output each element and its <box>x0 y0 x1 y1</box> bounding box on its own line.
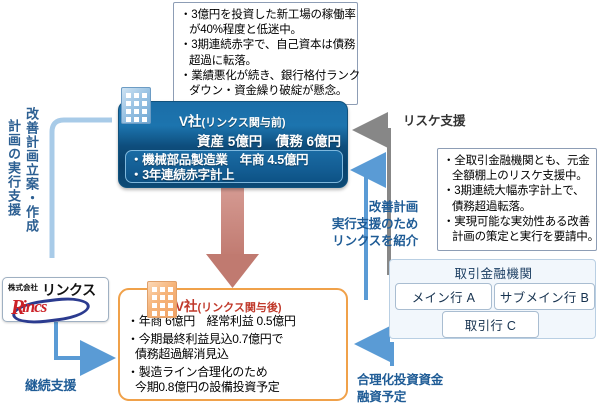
company-before-box: V社(リンクス関与前) 資産 5億円 債務 6億円 ・機械部品製造業 年商 4.… <box>118 101 348 188</box>
arrow-transformation <box>206 188 259 288</box>
company-after-item: ・今期最終利益見込0.7億円で 債務超過解消見込 <box>127 332 345 363</box>
company-after-item: ・製造ライン合理化のため 今期0.8億円の設備投資予定 <box>127 365 345 396</box>
company-before-detail-line: ・3年連続赤字計上 <box>130 168 338 183</box>
company-before-detail-line: ・機械部品製造業 年商 4.5億円 <box>130 153 338 168</box>
logo-company-prefix: 株式会社 <box>8 282 38 293</box>
vertical-label-execution-support: 計画の実行支援 <box>4 119 23 217</box>
company-before-subtitle: (リンクス関与前) <box>202 117 286 129</box>
label-continuous-support: 継続支援 <box>25 375 76 394</box>
bank-panel: 取引金融機関 メイン行 A サブメイン行 B 取引行 C <box>389 259 596 339</box>
label-intro-line: 改善計画 <box>300 199 418 216</box>
bank-chip-main[interactable]: メイン行 A <box>395 283 492 310</box>
bank-panel-title: 取引金融機関 <box>390 263 597 282</box>
arrow-continuous-support <box>56 322 112 358</box>
bank-chip-other[interactable]: 取引行 C <box>442 311 539 338</box>
company-after-details: ・年商 6億円 経常利益 0.5億円 ・今期最終利益見込0.7億円で 債務超過解… <box>127 314 345 398</box>
bank-chip-submain[interactable]: サブメイン行 B <box>494 283 595 310</box>
issues-callout: ・3億円を投資した新工場の稼働率 が40%程度と低迷中。 ・3期連続赤字で、自己… <box>173 2 358 105</box>
company-after-line: ・今期最終利益見込0.7億円で <box>127 332 345 347</box>
issues-line: 超過に転落。 <box>180 54 352 69</box>
logo-mark-word: incs <box>22 297 46 317</box>
bank-position-line: 計画の策定と実行を要請中。 <box>443 230 592 245</box>
issues-line: が40%程度と低迷中。 <box>180 23 352 38</box>
company-before-assets: 資産 5億円 債務 6億円 <box>197 130 341 150</box>
bank-position-line: ・3期連続大幅赤字計上で、 <box>443 184 592 199</box>
bank-position-line: 全額棚上のリスケ支援中。 <box>443 169 592 184</box>
company-before-name: V社 <box>179 114 202 129</box>
rincs-mark-icon: R incs <box>10 296 104 320</box>
issues-line: ダウン・資金繰り破綻が懸念。 <box>180 84 352 99</box>
label-intro-rincs: 改善計画 実行支援のため リンクスを紹介 <box>300 199 418 250</box>
bank-position-callout: ・全取引金融機関とも、元金 全額棚上のリスケ支援中。 ・3期連続大幅赤字計上で、… <box>437 148 597 251</box>
company-before-details: ・機械部品製造業 年商 4.5億円 ・3年連続赤字計上 <box>125 150 343 183</box>
label-investment-line: 合理化投資資金 <box>357 372 443 389</box>
bank-position-line: ・実現可能な実効性ある改善 <box>443 215 592 230</box>
issues-line: ・業績悪化が続き、銀行格付ランク <box>180 69 352 84</box>
label-intro-line: リンクスを紹介 <box>300 233 418 250</box>
rincs-logo-box: 株式会社 リンクス R incs <box>2 277 109 322</box>
bank-position-line: 債務超過転落。 <box>443 200 592 215</box>
diagram-canvas: ・3億円を投資した新工場の稼働率 が40%程度と低迷中。 ・3期連続赤字で、自己… <box>0 0 600 410</box>
company-after-title: V社(リンクス関与後) <box>175 295 282 315</box>
company-before-title: V社(リンクス関与前) <box>179 110 286 130</box>
issues-line: ・3期連続赤字で、自己資本は債務 <box>180 38 352 53</box>
bracket-improvement-plan <box>52 120 112 258</box>
company-after-subline: 今期0.8億円の設備投資予定 <box>127 380 345 395</box>
bank-position-line: ・全取引金融機関とも、元金 <box>443 154 592 169</box>
building-icon-before <box>121 87 151 124</box>
label-investment-line: 融資予定 <box>357 389 443 406</box>
company-after-name: V社 <box>175 299 198 314</box>
company-after-line: ・製造ライン合理化のため <box>127 365 345 380</box>
company-after-subtitle: (リンクス関与後) <box>198 302 282 314</box>
building-icon-after <box>147 281 177 318</box>
arrow-investment-loan <box>358 344 392 366</box>
label-investment-loan: 合理化投資資金 融資予定 <box>357 372 443 406</box>
label-intro-line: 実行支援のため <box>300 216 418 233</box>
company-after-subline: 債務超過解消見込 <box>127 347 345 362</box>
issues-line: ・3億円を投資した新工場の稼働率 <box>180 8 352 23</box>
label-risuke-support: リスケ支援 <box>403 110 466 129</box>
vertical-label-improvement-plan: 改善計画立案・作成 <box>22 107 41 233</box>
